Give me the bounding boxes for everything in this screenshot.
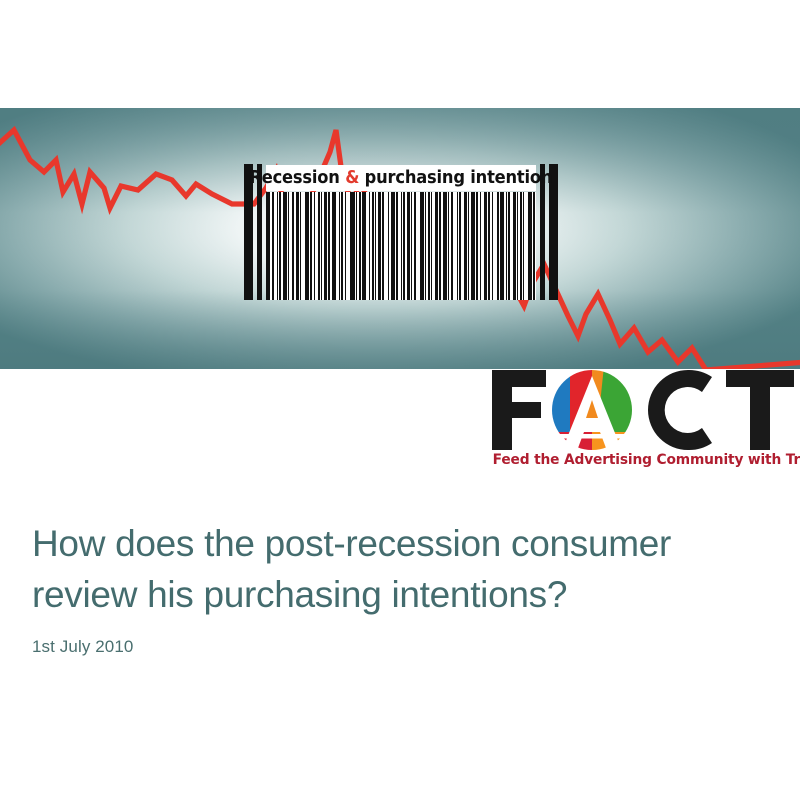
barcode-bar	[414, 192, 416, 300]
barcode-caption-ampersand: &	[345, 168, 359, 188]
barcode-bar	[523, 192, 524, 300]
barcode-bar	[443, 192, 447, 300]
barcode-bar	[517, 192, 518, 300]
barcode-bar	[300, 192, 301, 300]
presentation-date: 1st July 2010	[32, 637, 762, 657]
barcode-bar	[279, 192, 281, 300]
barcode-bar	[420, 192, 424, 300]
barcode-bar	[480, 192, 481, 300]
barcode-bar	[451, 192, 453, 300]
barcode-bar	[497, 192, 499, 300]
barcode-bar	[484, 192, 487, 300]
barcode-bar	[341, 192, 343, 300]
fact-logo-letter-f	[492, 370, 546, 450]
barcode-bar	[350, 192, 355, 300]
barcode-bar	[314, 192, 315, 300]
barcode-bar	[506, 192, 507, 300]
barcode-bar	[321, 192, 322, 300]
barcode-bar	[332, 192, 336, 300]
barcode-bar	[425, 192, 426, 300]
fact-logo-tagline: Feed the Advertising Community with Tren…	[493, 452, 794, 468]
barcode-bar	[403, 192, 405, 300]
barcode-bar	[283, 192, 287, 300]
barcode-bar	[513, 192, 516, 300]
barcode-bar	[435, 192, 438, 300]
barcode-caption-suffix: purchasing intention	[359, 168, 552, 188]
barcode-bar	[388, 192, 389, 300]
barcode-bar	[292, 192, 294, 300]
barcode-bar	[439, 192, 441, 300]
barcode-bar	[310, 192, 312, 300]
barcode-bar	[372, 192, 374, 300]
barcode-bar	[382, 192, 384, 300]
barcode-bar	[266, 192, 270, 300]
barcode-bar	[396, 192, 398, 300]
barcode-bar	[305, 192, 309, 300]
barcode-bar	[500, 192, 504, 300]
barcode-bar	[356, 192, 357, 300]
barcode-bar	[492, 192, 493, 300]
barcode-bar	[428, 192, 430, 300]
barcode-bar	[296, 192, 299, 300]
barcode-bar	[411, 192, 412, 300]
barcode-bar	[378, 192, 381, 300]
barcode-bar	[345, 192, 346, 300]
barcode-bar	[362, 192, 366, 300]
barcode-bar	[533, 192, 535, 300]
barcode-bar	[359, 192, 361, 300]
barcode-bar	[468, 192, 469, 300]
slide-canvas: Recession & purchasing intention	[0, 0, 800, 800]
page-title-line-2: review his purchasing intentions?	[32, 569, 762, 620]
fact-logo-letter-a-circle	[552, 366, 638, 454]
barcode-caption: Recession & purchasing intention	[266, 165, 536, 191]
barcode-bar	[471, 192, 475, 300]
barcode-bar	[369, 192, 370, 300]
fact-logo-letter-c	[648, 370, 712, 450]
barcode-bar	[272, 192, 274, 300]
title-block: How does the post-recession consumer rev…	[32, 518, 762, 657]
barcode-bar	[407, 192, 410, 300]
page-title-line-1: How does the post-recession consumer	[32, 523, 671, 564]
fact-logo: Feed the Advertising Community with Tren…	[488, 366, 798, 478]
barcode-bar	[508, 192, 510, 300]
barcode-bar	[288, 192, 289, 300]
barcode-bar	[476, 192, 478, 300]
barcode-bar	[464, 192, 467, 300]
barcode-bar	[328, 192, 330, 300]
barcode-bar	[431, 192, 432, 300]
barcode-bar	[318, 192, 320, 300]
barcode-bar	[448, 192, 449, 300]
fact-logo-letter-t	[726, 370, 794, 450]
barcode-bar	[277, 192, 278, 300]
barcode-caption-prefix: Recession	[250, 168, 346, 188]
barcode-bar	[391, 192, 395, 300]
barcode-bar	[375, 192, 376, 300]
barcode-graphic: Recession & purchasing intention	[244, 164, 558, 300]
fact-logo-mark	[488, 366, 798, 454]
barcode-bar	[324, 192, 327, 300]
barcode-bar	[339, 192, 340, 300]
barcode-bars	[266, 192, 536, 300]
barcode-bar	[459, 192, 461, 300]
page-title: How does the post-recession consumer rev…	[32, 518, 762, 620]
barcode-bar	[488, 192, 490, 300]
barcode-bar	[457, 192, 458, 300]
barcode-bar	[528, 192, 532, 300]
barcode-bar	[401, 192, 402, 300]
barcode-bar	[520, 192, 522, 300]
